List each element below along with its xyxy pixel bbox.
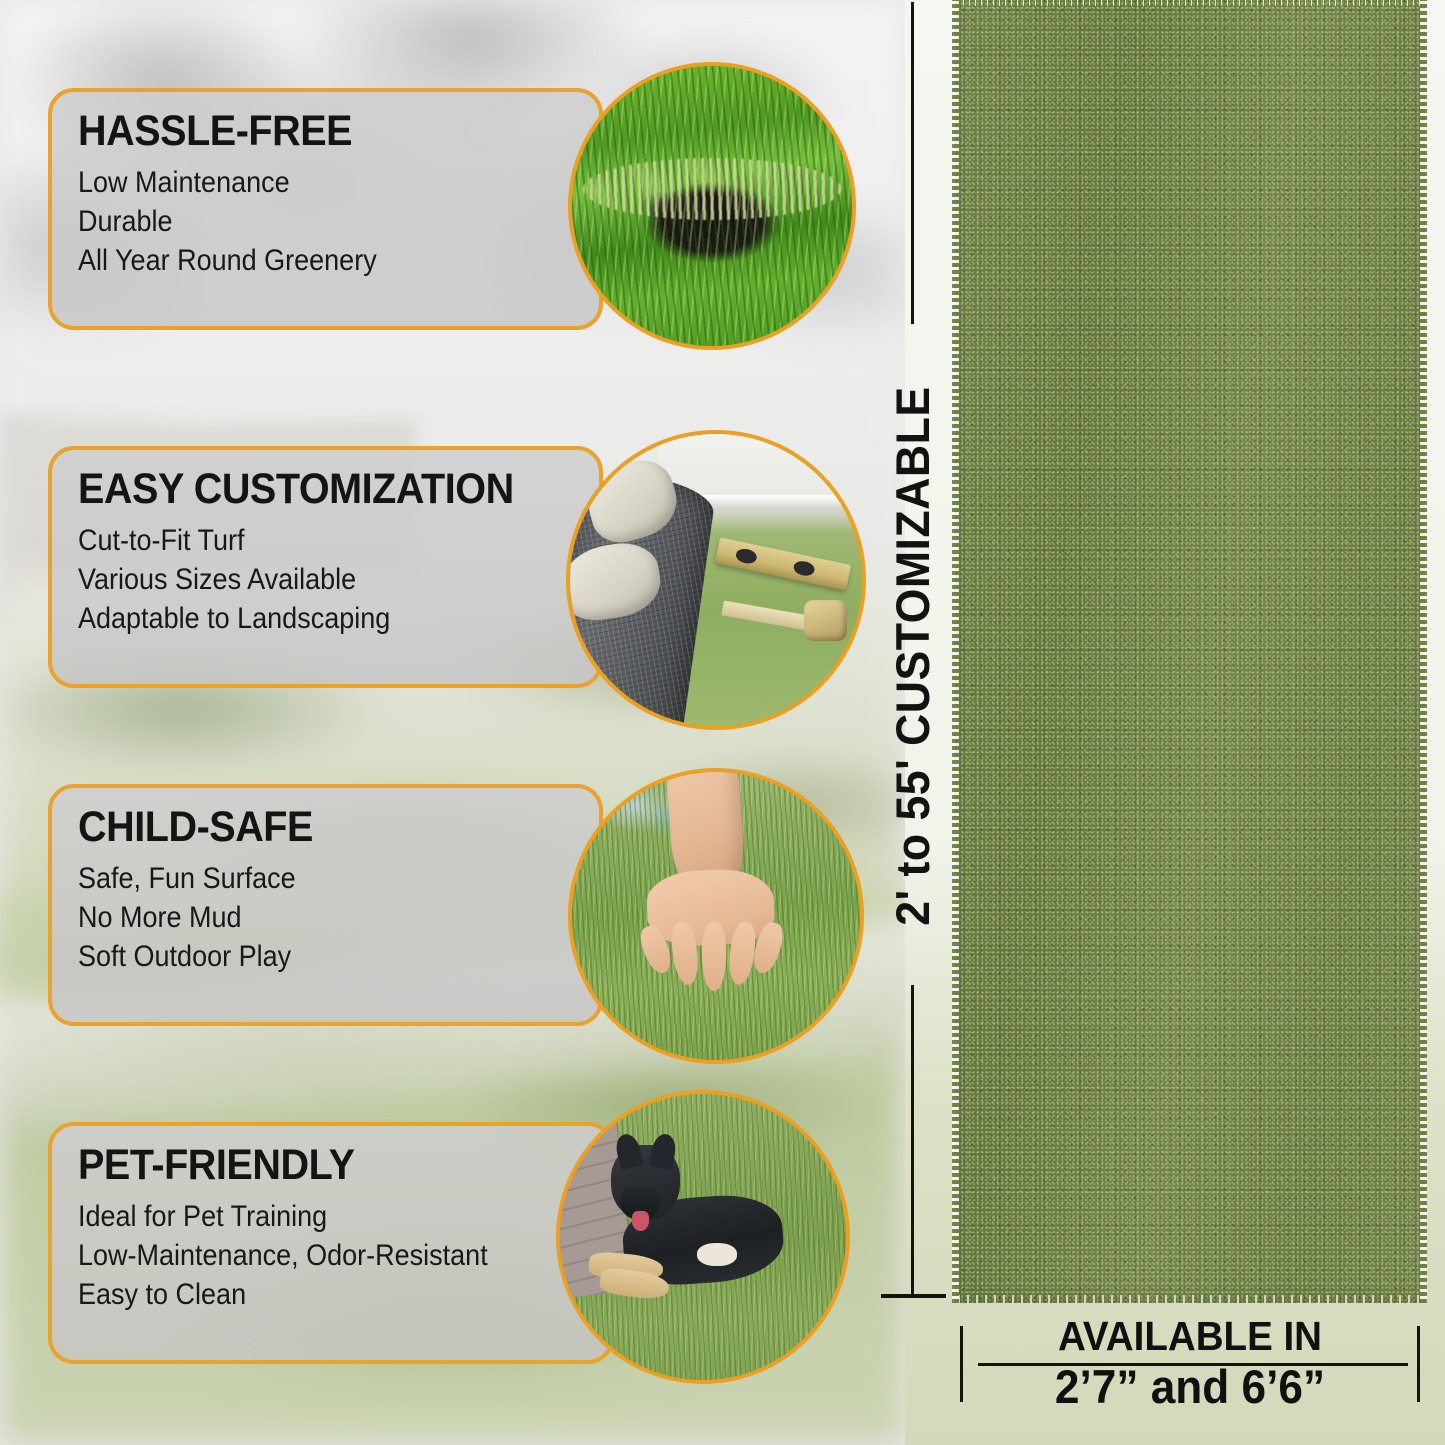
feature-card-hassle-free: HASSLE-FREE Low Maintenance Durable All … [48, 88, 603, 330]
width-dimension-label: AVAILABLE IN 2’7” and 6’6” [950, 1316, 1430, 1411]
feature-bullet: Adaptable to Landscaping [78, 599, 524, 638]
turf-thatch-layer [583, 158, 841, 220]
dog-tongue [632, 1211, 649, 1231]
feature-card-pet-friendly: PET-FRIENDLY Ideal for Pet Training Low-… [48, 1122, 614, 1364]
artificial-turf-strip [955, 0, 1425, 1303]
feature-card-easy-customization: EASY CUSTOMIZATION Cut-to-Fit Turf Vario… [48, 446, 603, 688]
feature-bullet: Low Maintenance [78, 163, 524, 202]
feature-bullet: Cut-to-Fit Turf [78, 521, 524, 560]
feature-title: HASSLE-FREE [78, 110, 533, 153]
vertical-dimension-line-top [911, 2, 914, 324]
dog-lying-on-turf-photo [556, 1090, 850, 1384]
feature-bullet: Soft Outdoor Play [78, 937, 524, 976]
tape-measure-body [804, 600, 848, 641]
child-hand-on-turf-photo [568, 768, 864, 1064]
feature-bullet: Various Sizes Available [78, 560, 524, 599]
feature-card-child-safe: CHILD-SAFE Safe, Fun Surface No More Mud… [48, 784, 603, 1026]
vertical-dimension-text: 2' to 55' CUSTOMIZABLE [885, 386, 940, 925]
feature-bullet: Ideal for Pet Training [78, 1197, 533, 1236]
turf-roll-closeup-photo [568, 62, 856, 350]
feature-bullet: Durable [78, 202, 524, 241]
feature-bullet: Easy to Clean [78, 1275, 533, 1314]
dog-chest-marking [697, 1243, 737, 1266]
feature-bullet: Low-Maintenance, Odor-Resistant [78, 1236, 533, 1275]
turf-right-edge [1420, 0, 1427, 1303]
vertical-dimension-end-cap [881, 1294, 946, 1298]
feature-bullet: Safe, Fun Surface [78, 859, 524, 898]
vertical-dimension-label: 2' to 55' CUSTOMIZABLE [866, 336, 958, 976]
feature-bullet: No More Mud [78, 898, 524, 937]
width-label-line2: 2’7” and 6’6” [964, 1363, 1415, 1411]
width-dimension-block: AVAILABLE IN 2’7” and 6’6” [950, 1316, 1430, 1434]
feature-title: PET-FRIENDLY [78, 1144, 544, 1187]
feature-title: EASY CUSTOMIZATION [78, 468, 533, 511]
feature-bullet: All Year Round Greenery [78, 241, 524, 280]
gloved-hands-unrolling-turf-photo [566, 430, 866, 730]
width-label-line1: AVAILABLE IN [964, 1316, 1415, 1358]
vertical-dimension-line-bottom [911, 985, 914, 1297]
product-infographic: HASSLE-FREE Low Maintenance Durable All … [0, 0, 1445, 1445]
feature-title: CHILD-SAFE [78, 806, 533, 849]
